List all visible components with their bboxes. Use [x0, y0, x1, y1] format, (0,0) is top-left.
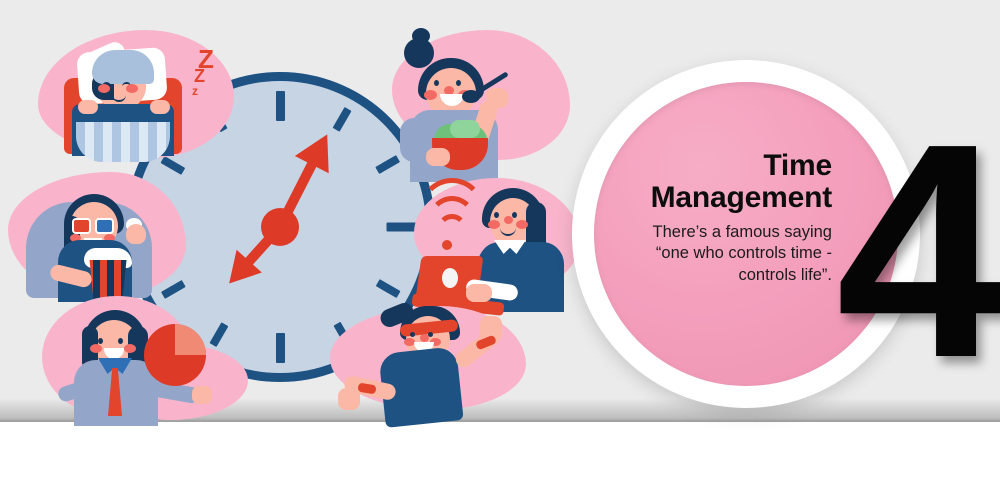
athlete-hand-left: [338, 388, 360, 410]
eater-hand-holding-spoon: [486, 88, 508, 108]
vignette-person-exercising: [330, 296, 545, 424]
clock-tick-6: [276, 227, 285, 363]
businessperson-cheek-left: [90, 344, 102, 353]
sleeper-cheek-right: [126, 84, 138, 93]
subtitle-line-3: controls life”.: [738, 266, 832, 284]
3d-glasses-icon: [72, 218, 116, 234]
page-subtitle: There’s a famous saying “one who control…: [600, 222, 832, 286]
athlete-nose: [420, 334, 429, 342]
worker-nose: [504, 216, 513, 224]
businessperson-eye-left: [98, 338, 103, 344]
sleeper-arm-left: [78, 100, 98, 114]
clock-tick-3: [280, 223, 416, 232]
eater-cheek-left: [424, 90, 437, 100]
eater-eye-right: [456, 80, 461, 86]
laptop-logo-icon: [442, 268, 458, 288]
clock-center-hub: [261, 208, 299, 246]
clock-tick-12: [276, 91, 285, 227]
worker-eye-right: [512, 212, 517, 218]
title-line-2: Management: [651, 181, 832, 214]
circle-text-block: Time Management There’s a famous saying …: [600, 150, 832, 286]
worker-eye-left: [494, 212, 499, 218]
slide-canvas: Z Z z: [0, 0, 1000, 500]
nightcap: [92, 50, 154, 84]
title-line-1: Time: [763, 149, 832, 182]
worker-cheek-right: [516, 220, 528, 229]
slide-number: 4: [836, 98, 998, 403]
wifi-icon: [416, 198, 478, 250]
subtitle-line-1: There’s a famous saying: [653, 223, 832, 241]
athlete-eye-left: [410, 332, 415, 337]
vignette-person-eating-salad: [378, 24, 583, 184]
vignette-person-watching-movie: [0, 168, 200, 313]
viewer-hand: [126, 224, 146, 244]
bed-striped-sheet: [76, 122, 170, 162]
sleeper-arm-right: [150, 100, 170, 114]
eater-eye-left: [434, 80, 439, 86]
vignette-person-sleeping: Z Z z: [20, 22, 240, 172]
sleeper-cheek-left: [98, 84, 110, 93]
businessperson-eye-right: [118, 338, 123, 344]
spoon-bowl-icon: [462, 90, 480, 103]
salad-greens-highlight: [450, 120, 480, 138]
snore-z-small: z: [192, 84, 198, 98]
eater-hair-bun: [404, 38, 434, 68]
vignette-person-with-pie-chart: [32, 296, 247, 424]
eater-hand-holding-bowl: [426, 148, 450, 166]
subtitle-line-2: “one who controls time -: [656, 244, 832, 262]
pie-chart-slice: [175, 324, 206, 355]
page-title: Time Management: [600, 150, 832, 215]
worker-cheek-left: [488, 220, 500, 229]
businessperson-cheek-right: [124, 344, 136, 353]
businessperson-hand: [192, 386, 212, 404]
